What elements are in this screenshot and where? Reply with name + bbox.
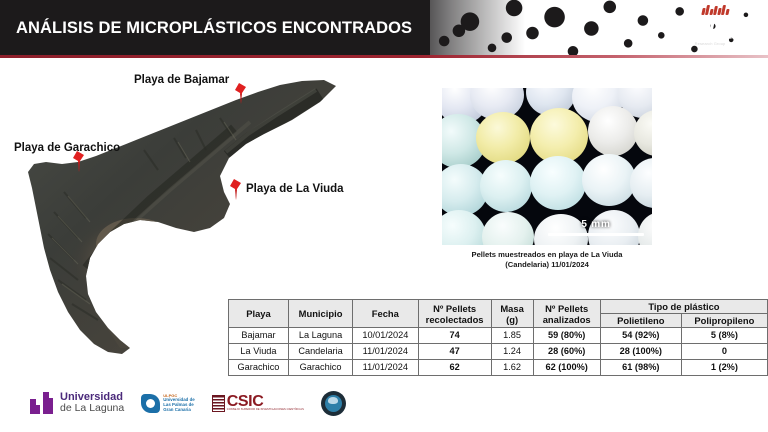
cell-municipio: Candelaria (288, 344, 352, 360)
map-label-bajamar: Playa de Bajamar (134, 74, 229, 86)
th-municipio: Municipio (288, 300, 352, 328)
ulpgc-mark-icon (141, 394, 160, 413)
scale-bar-line (548, 233, 644, 236)
ull-wordmark: Universidad de La Laguna (60, 392, 124, 414)
th-pellets-analizados: Nº Pellets analizados (533, 300, 600, 328)
cell-analizados: 28 (60%) (533, 344, 600, 360)
th-fecha: Fecha (353, 300, 418, 328)
cell-analizados: 59 (80%) (533, 328, 600, 344)
cell-masa: 1.85 (491, 328, 533, 344)
logo-circular-emblem (321, 391, 346, 416)
achem-logo-marks (702, 4, 758, 15)
map-label-la-viuda: Playa de La Viuda (246, 183, 344, 195)
cell-polietileno: 28 (100%) (600, 344, 681, 360)
th-pellets-recolectados: Nº Pellets recolectados (418, 300, 491, 328)
cell-recolectados: 62 (418, 360, 491, 376)
cell-municipio: La Laguna (288, 328, 352, 344)
cell-recolectados: 47 (418, 344, 491, 360)
logo-csic: CSIC CONSEJO SUPERIOR DE INVESTIGACIONES… (212, 395, 304, 412)
photo-caption-line-1: Pellets muestreados en playa de La Viuda (442, 250, 652, 260)
scale-bar-label: 5 mm (548, 219, 644, 231)
th-polietileno: Polietileno (600, 314, 681, 328)
cell-polipropileno: 1 (2%) (681, 360, 767, 376)
footer-logos: Universidad de La Laguna ULPGC Universid… (30, 385, 360, 421)
cell-polietileno: 61 (98%) (600, 360, 681, 376)
cell-fecha: 11/01/2024 (353, 360, 418, 376)
results-table: Playa Municipio Fecha Nº Pellets recolec… (228, 299, 768, 376)
page-title: ANÁLISIS DE MICROPLÁSTICOS ENCONTRADOS (16, 0, 412, 57)
cell-recolectados: 74 (418, 328, 491, 344)
achem-tagline-2: Research Group (662, 41, 758, 47)
th-polipropileno: Polipropileno (681, 314, 767, 328)
pellet-photograph: 5 mm (442, 88, 652, 245)
photo-caption: Pellets muestreados en playa de La Viuda… (442, 250, 652, 269)
header-accent-rule (0, 55, 768, 58)
cell-playa: Bajamar (229, 328, 289, 344)
cell-fecha: 11/01/2024 (353, 344, 418, 360)
cell-polietileno: 54 (92%) (600, 328, 681, 344)
map-pin-la-viuda-icon (229, 178, 243, 200)
map-label-garachico: Playa de Garachico (14, 142, 120, 154)
logo-universidad-de-la-laguna: Universidad de La Laguna (30, 392, 124, 414)
map-pin-garachico-icon (72, 150, 86, 172)
th-tipo-de-plastico: Tipo de plástico (600, 300, 767, 314)
cell-polipropileno: 5 (8%) (681, 328, 767, 344)
pellet-photo-block: 5 mm Pellets muestreados en playa de La … (442, 88, 652, 269)
map-pin-bajamar-icon (234, 82, 248, 104)
ull-line-2: de La Laguna (60, 403, 124, 414)
th-recolectados-line-2: recolectados (426, 314, 484, 325)
th-masa-line-1: Masa (500, 303, 523, 314)
table-row: La Viuda Candelaria 11/01/2024 47 1.24 2… (229, 344, 768, 360)
cell-masa: 1.24 (491, 344, 533, 360)
cell-masa: 1.62 (491, 360, 533, 376)
logo-ulpgc: ULPGC Universidad de Las Palmas de Gran … (141, 394, 194, 413)
csic-word: CSIC (227, 395, 304, 408)
cell-polipropileno: 0 (681, 344, 767, 360)
cell-playa: La Viuda (229, 344, 289, 360)
cell-fecha: 10/01/2024 (353, 328, 418, 344)
csic-subtitle: CONSEJO SUPERIOR DE INVESTIGACIONES CIEN… (227, 408, 304, 412)
results-table-wrapper: Playa Municipio Fecha Nº Pellets recolec… (228, 299, 768, 376)
csic-crest-icon (212, 395, 225, 412)
cell-playa: Garachico (229, 360, 289, 376)
th-analizados-line-1: Nº Pellets (545, 303, 588, 314)
th-masa-line-2: (g) (506, 314, 518, 325)
table-row: Bajamar La Laguna 10/01/2024 74 1.85 59 … (229, 328, 768, 344)
photo-caption-line-2: (Candelaria) 11/01/2024 (442, 260, 652, 270)
ull-mark-icon (30, 392, 55, 414)
achem-logo: AChem Applied Analytical Chemistry Resea… (662, 4, 758, 52)
th-analizados-line-2: analizados (543, 314, 591, 325)
th-masa: Masa (g) (491, 300, 533, 328)
table-row: Garachico Garachico 11/01/2024 62 1.62 6… (229, 360, 768, 376)
ulpgc-line-3: Gran Canaria (163, 408, 194, 413)
th-playa: Playa (229, 300, 289, 328)
scale-bar: 5 mm (548, 219, 644, 236)
ulpgc-wordmark: ULPGC Universidad de Las Palmas de Gran … (163, 394, 194, 412)
table-header-row-1: Playa Municipio Fecha Nº Pellets recolec… (229, 300, 768, 314)
achem-wordmark: AChem (662, 15, 758, 35)
cell-analizados: 62 (100%) (533, 360, 600, 376)
csic-wordmark: CSIC CONSEJO SUPERIOR DE INVESTIGACIONES… (227, 395, 304, 412)
cell-municipio: Garachico (288, 360, 352, 376)
th-recolectados-line-1: Nº Pellets (433, 303, 476, 314)
